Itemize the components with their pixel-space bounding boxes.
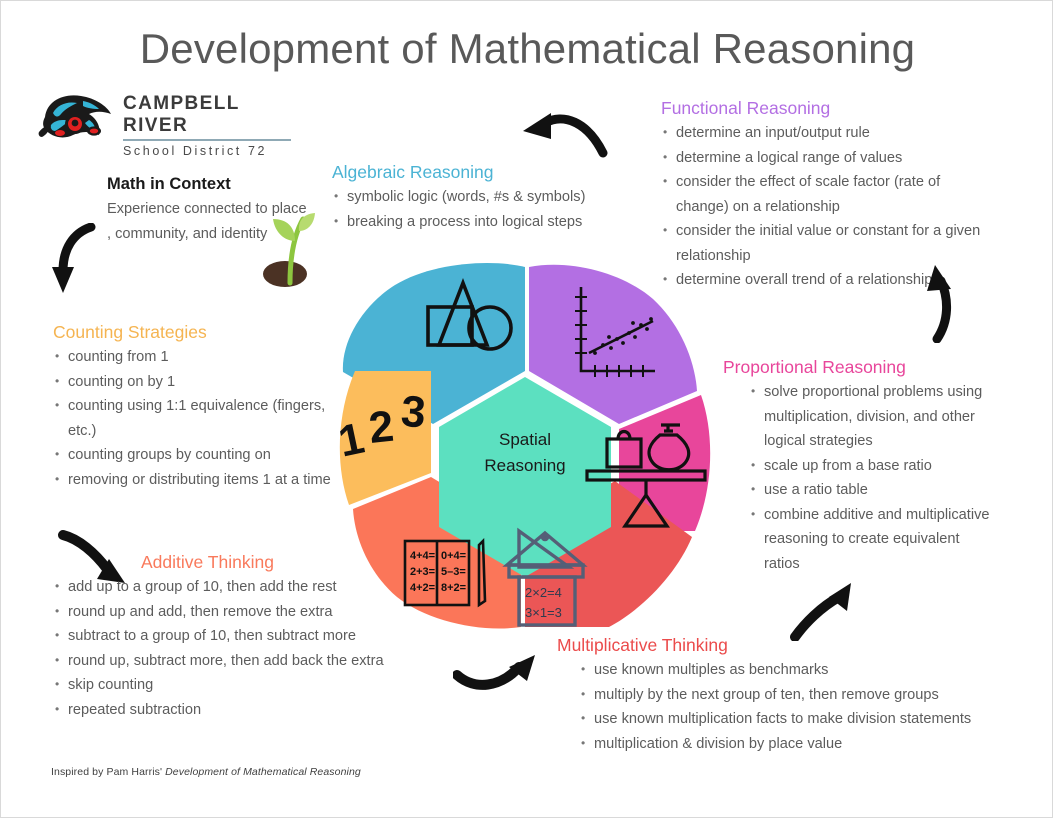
center-label-line2: Reasoning [484,456,565,475]
logo-subtitle: School District 72 [123,143,291,159]
counting-strategies-heading: Counting Strategies [53,321,353,343]
hexagon-pinwheel-diagram: 1 2 3 4+4=2+3=4+2= 0+4=5–3=8+2= [323,249,727,653]
svg-text:2: 2 [366,402,395,453]
list-item: use known multiples as benchmarks [579,658,1007,683]
math-in-context-heading: Math in Context [107,173,307,195]
svg-text:0+4=: 0+4= [441,550,466,562]
svg-text:2×2=4: 2×2=4 [525,585,562,600]
logo-divider [123,139,291,141]
svg-text:3: 3 [399,387,427,438]
arrow-curve-up-bottom-right-icon [787,579,857,641]
list-item: determine a logical range of values [661,146,991,171]
infographic-page: Development of Mathematical Reasoning CA… [0,0,1053,818]
arrow-curve-up-top-icon [517,111,609,159]
svg-text:4+4=: 4+4= [410,550,435,562]
list-item: counting using 1:1 equivalence (fingers,… [53,394,353,443]
list-item: repeated subtraction [53,698,483,723]
list-item: combine additive and multiplicative reas… [749,503,993,577]
proportional-reasoning-list: solve proportional problems using multip… [749,380,993,576]
center-label-line1: Spatial [499,430,551,449]
svg-text:4+2=: 4+2= [410,582,435,594]
list-item: consider the effect of scale factor (rat… [661,170,991,219]
list-item: removing or distributing items 1 at a ti… [53,468,353,493]
svg-text:5–3=: 5–3= [441,566,466,578]
arrow-curve-right-bottom-icon [453,653,539,695]
list-item: multiplication & division by place value [579,732,1007,757]
logo-title: CAMPBELL RIVER [123,93,291,137]
list-item: multiply by the next group of ten, then … [579,683,1007,708]
list-item: skip counting [53,673,483,698]
list-item: counting groups by counting on [53,443,353,468]
list-item: solve proportional problems using multip… [749,380,993,454]
svg-text:3×1=3: 3×1=3 [525,605,562,620]
counting-strategies-list: counting from 1 counting on by 1 countin… [53,345,353,492]
algebraic-reasoning-list: symbolic logic (words, #s & symbols) bre… [332,185,642,234]
section-counting-strategies: Counting Strategies counting from 1 coun… [53,321,353,492]
svg-text:2+3=: 2+3= [410,566,435,578]
list-item: determine an input/output rule [661,121,991,146]
section-proportional-reasoning: Proportional Reasoning solve proportiona… [723,356,993,576]
arrow-down-left-icon [47,223,99,299]
campbell-river-school-district-logo: CAMPBELL RIVER School District 72 [37,87,287,149]
sprout-icon [259,201,317,293]
footer-prefix: Inspired by Pam Harris' [51,766,165,778]
page-title: Development of Mathematical Reasoning [1,25,1053,73]
list-item: scale up from a base ratio [749,454,993,479]
list-item: counting from 1 [53,345,353,370]
list-item: breaking a process into logical steps [332,210,642,235]
list-item: use a ratio table [749,478,993,503]
functional-reasoning-heading: Functional Reasoning [661,97,991,119]
list-item: counting on by 1 [53,370,353,395]
arrow-curve-up-right-icon [915,263,961,343]
salmon-formline-icon [37,87,115,149]
proportional-reasoning-heading: Proportional Reasoning [723,356,993,378]
list-item: symbolic logic (words, #s & symbols) [332,185,642,210]
svg-text:8+2=: 8+2= [441,582,466,594]
multiplicative-thinking-list: use known multiples as benchmarks multip… [579,658,1007,756]
footer-title: Development of Mathematical Reasoning [165,766,361,778]
algebraic-reasoning-heading: Algebraic Reasoning [332,161,642,183]
section-algebraic-reasoning: Algebraic Reasoning symbolic logic (word… [332,161,642,234]
list-item: use known multiplication facts to make d… [579,707,1007,732]
footer-credit: Inspired by Pam Harris' Development of M… [51,766,361,778]
